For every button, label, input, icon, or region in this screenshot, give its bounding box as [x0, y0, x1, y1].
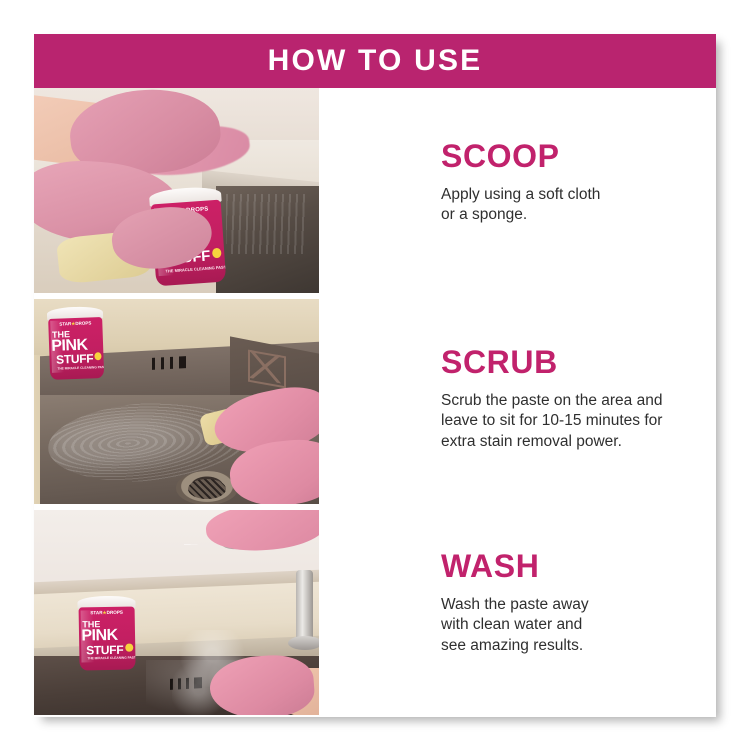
sink-bracket [248, 350, 286, 389]
tub-label: STAR★DROPS THE PINK STUFF THE MIRACLE CL… [79, 607, 136, 671]
step-scrub: SCRUB Scrub the paste on the area and le… [441, 346, 716, 452]
pink-stuff-tub: STAR★DROPS THE PINK STUFF THE MIRACLE CL… [77, 595, 136, 670]
step-title-scoop: SCOOP [441, 140, 716, 172]
stainless-sink [216, 186, 319, 293]
tap-base [288, 636, 319, 650]
step-title-wash: WASH [441, 550, 716, 582]
page-title: HOW TO USE [268, 46, 483, 76]
instructions-column: SCOOP Apply using a soft cloth or a spon… [319, 88, 716, 717]
brand-logo: STAR★DROPS [48, 321, 102, 327]
tap-body [296, 570, 313, 646]
overflow-holes [152, 356, 186, 370]
tub-label-pink: PINK [81, 627, 135, 644]
step-description-wash: Wash the paste away with clean water and… [441, 595, 716, 656]
step-photo-wash: STAR★DROPS THE PINK STUFF THE MIRACLE CL… [34, 510, 319, 715]
step-description-scoop: Apply using a soft cloth or a sponge. [441, 185, 716, 226]
scene-scoop: STAR★DROPS THE PINK STUFF THE MIRACLE CL… [34, 88, 319, 293]
card-body: STAR★DROPS THE PINK STUFF THE MIRACLE CL… [34, 88, 716, 717]
tub-tagline: THE MIRACLE CLEANING PASTE [87, 657, 135, 661]
step-wash: WASH Wash the paste away with clean wate… [441, 550, 716, 656]
step-title-scrub: SCRUB [441, 346, 716, 378]
tub-yellow-badge [126, 643, 133, 651]
brand-logo: STAR★DROPS [79, 611, 135, 617]
step-photo-scrub: STAR★DROPS THE PINK STUFF THE MIRACLE CL… [34, 299, 319, 504]
screenshot-root: HOW TO USE [0, 0, 750, 750]
step-description-scrub: Scrub the paste on the area and leave to… [441, 391, 716, 452]
scene-wash: STAR★DROPS THE PINK STUFF THE MIRACLE CL… [34, 510, 319, 715]
tub-label: STAR★DROPS THE PINK STUFF THE MIRACLE CL… [48, 317, 104, 380]
sink-drain [176, 471, 238, 504]
tub-tagline: THE MIRACLE CLEANING PASTE [57, 366, 104, 371]
step-photo-scoop: STAR★DROPS THE PINK STUFF THE MIRACLE CL… [34, 88, 319, 293]
step-scoop: SCOOP Apply using a soft cloth or a spon… [441, 140, 716, 226]
photo-column: STAR★DROPS THE PINK STUFF THE MIRACLE CL… [34, 88, 319, 717]
pink-stuff-tub: STAR★DROPS THE PINK STUFF THE MIRACLE CL… [47, 306, 105, 380]
how-to-use-card: HOW TO USE [34, 34, 716, 717]
card-header-bar: HOW TO USE [34, 34, 716, 88]
scene-scrub: STAR★DROPS THE PINK STUFF THE MIRACLE CL… [34, 299, 319, 504]
